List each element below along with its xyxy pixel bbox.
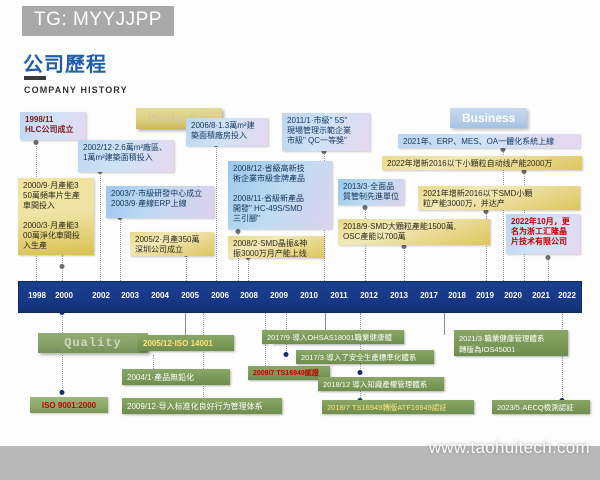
event-box-2008b: 2008/2·SMD晶振&神 振3000万月产能上线 <box>228 236 324 258</box>
event-box-2000: 2000/9·月產能3 50萬頻率片生產 車間投入 2000/3·月產能3 00… <box>18 178 94 255</box>
timeline-infographic: TG: MYYJJPP 公司歷程 COMPANY HISTORY Product… <box>0 0 600 480</box>
event-box-2022a: 2022年增新2016以下小顆粒自动线产能2000万 <box>382 156 582 170</box>
ribbon-quality: Quality <box>38 333 148 353</box>
event-box-iso9001: ISO 9001:2000 <box>30 397 108 413</box>
connector-2018 <box>404 247 405 281</box>
tag-label: TG: MYYJJPP <box>22 6 174 36</box>
node-1998 <box>34 140 39 145</box>
event-box-2013: 2013/3·全面品 質管制先進單位 <box>338 179 404 205</box>
event-box-2006: 2006/8·1.3萬m²建 築面積廠房投入 <box>186 118 268 146</box>
event-box-2021b: 2021年增新2016以下SMD小顆 粒产能3000万，并达产 <box>418 186 580 210</box>
connector-2022b <box>548 258 549 281</box>
axis-year-2019: 2019 <box>476 291 494 300</box>
event-box-1998: 1998/11 HLC公司成立 <box>20 112 86 140</box>
event-box-2011: 2011/1·市級" 5S" 現場管理示範企業 市級" QC一等獎" <box>282 113 370 151</box>
timeline-axis: 1998 2000 2002 2003 2004 2005 2006 2008 … <box>18 281 582 313</box>
axis-year-2008: 2008 <box>240 291 258 300</box>
event-box-2021a: 2021年、ERP、MES、OA一體化系統上線 <box>398 134 580 148</box>
event-box-2008a: 2008/12·省級高新技 術企業市級金牌產品 2008/11·省級新產品 開發… <box>228 161 332 229</box>
event-box-2009-12: 2009/12·导入标准化良好行为管理体系 <box>122 398 282 414</box>
event-box-2021-3: 2021/3·職業健康管理體系 轉版為IOS45001 <box>454 330 568 356</box>
axis-year-2021: 2021 <box>532 291 550 300</box>
connector-2002 <box>100 172 101 281</box>
event-box-2018-12: 2018/12 導入知識產權管理體系 <box>318 377 444 391</box>
connector-2023 <box>562 313 563 401</box>
axis-year-2003: 2003 <box>121 291 139 300</box>
axis-year-2017: 2017 <box>420 291 438 300</box>
event-box-2005: 2005/2·月產350萬 深圳公司成立 <box>130 232 214 256</box>
event-box-2022b: 2022年10月，更 名为浙工汇隆晶 片技术有限公司 <box>506 214 580 254</box>
axis-year-2020: 2020 <box>504 291 522 300</box>
event-box-2023-5: 2023/5·AECQ檢測認証 <box>492 400 590 414</box>
axis-year-2000: 2000 <box>55 291 73 300</box>
watermark-text: www.taohuitech.com <box>429 438 590 458</box>
node-2017b <box>284 352 289 357</box>
page-title: 公司歷程 <box>23 48 107 77</box>
node-9001 <box>60 390 65 395</box>
connector-2021-q <box>444 313 445 335</box>
event-box-2018: 2018/9·SMD大顆粒產能1500萬, OSC產能以700萬 <box>338 219 490 245</box>
axis-year-2009: 2009 <box>270 291 288 300</box>
event-box-2017-9: 2017/9·導入OHSAS18001職業健康體系 <box>262 330 404 344</box>
node-2000 <box>60 264 65 269</box>
axis-year-1998: 1998 <box>28 291 46 300</box>
title-underline <box>24 76 46 80</box>
connector-2009a <box>203 313 204 399</box>
axis-year-2002: 2002 <box>92 291 110 300</box>
axis-year-2023: 2023 <box>586 291 600 300</box>
axis-year-2018: 2018 <box>448 291 466 300</box>
axis-year-2022: 2022 <box>558 291 576 300</box>
ribbon-business: Business <box>450 108 527 128</box>
node-2013 <box>363 205 368 210</box>
connector-2006 <box>216 145 217 281</box>
connector-2008b <box>248 258 249 281</box>
axis-year-2012: 2012 <box>360 291 378 300</box>
event-box-2017-3: 2017/3·導入了安全生產標準化體系 <box>296 350 434 364</box>
node-quality <box>60 310 65 315</box>
event-box-2003: 2003/7·市級研發中心成立 2003/9·產線ERP上線 <box>106 186 214 218</box>
axis-year-2011: 2011 <box>330 291 347 300</box>
axis-year-2005: 2005 <box>181 291 199 300</box>
page-subtitle: COMPANY HISTORY <box>24 85 128 95</box>
event-box-2004: 2004/1·產品無鉛化 <box>122 369 230 385</box>
axis-year-2004: 2004 <box>151 291 169 300</box>
event-box-2002: 2002/12·2.6萬m²廠區、 1萬m²建築面積投入 <box>78 140 174 172</box>
connector-quality <box>62 313 63 335</box>
event-box-iso14001: 2005/12·ISO 14001 <box>138 335 234 351</box>
axis-year-2006: 2006 <box>211 291 229 300</box>
connector-9001 <box>62 348 63 392</box>
axis-year-2010: 2010 <box>300 291 318 300</box>
event-box-2018-7: 2018/7 TS16949轉版ATF16949認証 <box>322 400 474 414</box>
connector-2005 <box>186 255 187 281</box>
node-2018-12 <box>358 370 363 375</box>
node-2008a <box>236 229 241 234</box>
connector-2003 <box>120 218 121 281</box>
node-2022b <box>546 255 551 260</box>
axis-year-2013: 2013 <box>390 291 408 300</box>
